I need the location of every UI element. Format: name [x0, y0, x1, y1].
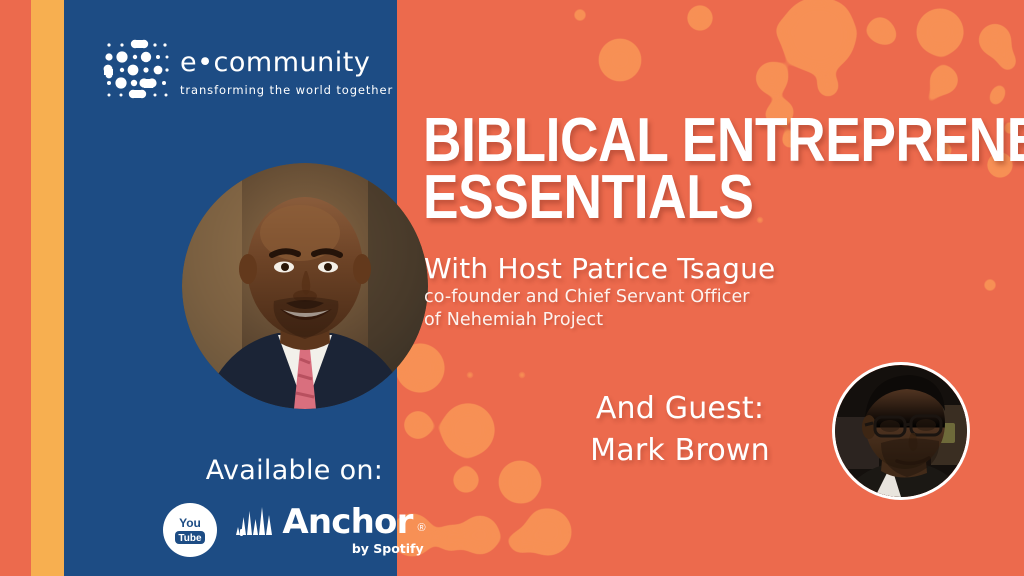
- guest-block: And Guest: Mark Brown: [520, 388, 840, 472]
- stripe-orange: [0, 0, 31, 576]
- title-line-2: ESSENTIALS: [423, 169, 1012, 226]
- host-role-line-2: of Nehemiah Project: [424, 309, 750, 332]
- promo-graphic: e•community transforming the world toget…: [0, 0, 1024, 576]
- platform-logos: You Tube: [128, 503, 461, 557]
- host-name-line: With Host Patrice Tsague: [424, 254, 775, 285]
- brand-logo: e•community transforming the world toget…: [100, 33, 385, 111]
- svg-text:Tube: Tube: [179, 533, 203, 544]
- guest-label: And Guest:: [520, 388, 840, 430]
- available-on-label: Available on:: [128, 455, 461, 486]
- dot-matrix-logo-icon: [100, 37, 170, 107]
- anchor-logo[interactable]: Anchor ® by Spotify: [235, 505, 425, 556]
- brand-tagline: transforming the world together: [180, 85, 393, 97]
- svg-text:You: You: [179, 516, 201, 530]
- guest-portrait-photo: [832, 362, 970, 500]
- main-title: BIBLICAL ENTREPRENEURSHIP ESSENTIALS: [423, 112, 1013, 226]
- title-line-1: BIBLICAL ENTREPRENEURSHIP: [423, 112, 1012, 169]
- host-portrait-photo: [182, 163, 428, 409]
- youtube-icon[interactable]: You Tube: [163, 503, 217, 557]
- anchor-waveform-icon: [235, 505, 277, 539]
- brand-name: e•community: [180, 49, 393, 76]
- anchor-wordmark: Anchor: [282, 505, 412, 539]
- anchor-registered-mark: ®: [418, 523, 426, 539]
- brand-wordmark: e•community transforming the world toget…: [180, 47, 393, 97]
- host-role: co-founder and Chief Servant Officer of …: [424, 286, 750, 333]
- guest-name: Mark Brown: [520, 430, 840, 472]
- anchor-main-row: Anchor ®: [235, 505, 425, 539]
- stripe-yellow: [31, 0, 64, 576]
- left-blue-panel: e•community transforming the world toget…: [64, 0, 397, 576]
- host-role-line-1: co-founder and Chief Servant Officer: [424, 286, 750, 309]
- anchor-by-spotify: by Spotify: [352, 543, 424, 556]
